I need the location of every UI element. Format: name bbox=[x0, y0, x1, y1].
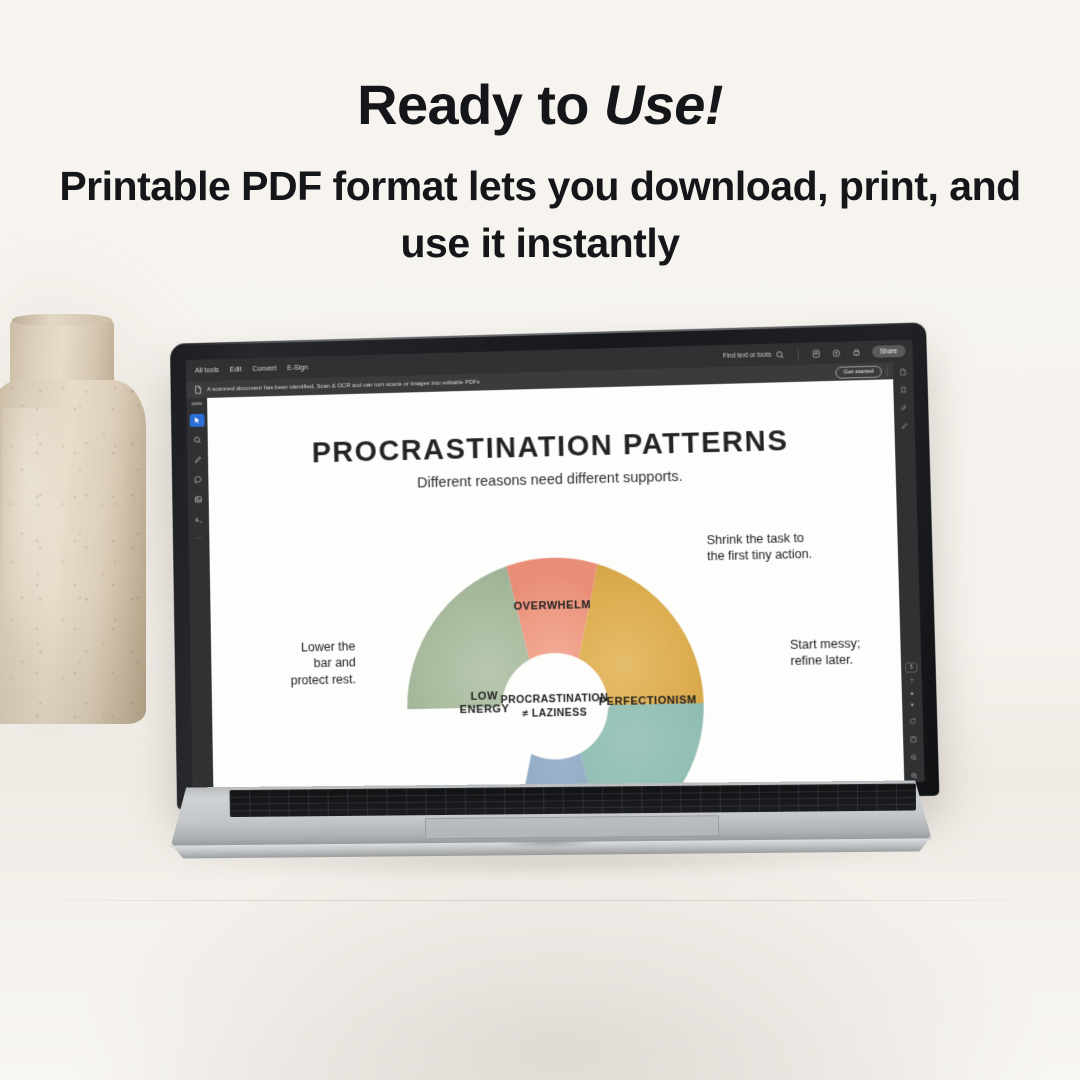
signature-tool-button[interactable] bbox=[191, 512, 206, 525]
print-icon[interactable] bbox=[852, 348, 861, 357]
page-number-current[interactable]: 5 bbox=[906, 662, 918, 672]
find-text-or-tools-button[interactable]: Find text or tools bbox=[723, 350, 785, 361]
toolbar-spacer bbox=[319, 356, 712, 367]
right-rail-spacer bbox=[905, 438, 911, 656]
wheel-hub-text: PROCRASTINATION ≠ LAZINESS bbox=[484, 692, 625, 723]
laptop-deck bbox=[169, 780, 932, 847]
export-pdf-icon[interactable] bbox=[896, 366, 910, 378]
zoom-tool-button[interactable] bbox=[190, 433, 205, 446]
bookmark-icon[interactable] bbox=[896, 384, 910, 396]
segment-label-overwhelm: OVERWHELM bbox=[494, 599, 610, 615]
get-started-button[interactable]: Get started bbox=[835, 365, 881, 378]
laptop-screen: All tools Edit Convert E-Sign Find text … bbox=[186, 340, 925, 796]
vase-texture bbox=[0, 380, 146, 724]
search-icon[interactable] bbox=[775, 350, 784, 359]
headline-emphasis: Use! bbox=[604, 73, 723, 136]
rotate-icon[interactable] bbox=[906, 715, 921, 727]
wheel-svg bbox=[386, 512, 724, 795]
menu-item-edit[interactable]: Edit bbox=[230, 366, 242, 373]
toolbar-divider bbox=[797, 348, 798, 359]
pdf-page-content: PROCRASTINATION PATTERNS Different reaso… bbox=[207, 379, 904, 795]
page-number-total: 7 bbox=[910, 679, 913, 685]
menu-item-e-sign[interactable]: E-Sign bbox=[287, 364, 308, 371]
rail-drag-handle[interactable] bbox=[191, 402, 202, 405]
notice-divider bbox=[887, 366, 888, 376]
keyboard[interactable] bbox=[229, 783, 915, 817]
add-image-tool-button[interactable] bbox=[191, 492, 206, 505]
trackpad[interactable] bbox=[425, 815, 719, 839]
attachment-icon[interactable] bbox=[897, 402, 911, 414]
chevron-up-icon[interactable]: ▲ bbox=[909, 691, 915, 697]
share-button[interactable]: Share bbox=[872, 345, 906, 358]
notice-spacer bbox=[485, 372, 831, 381]
headline-prefix: Ready to bbox=[357, 73, 604, 136]
edit-pencil-icon[interactable] bbox=[897, 420, 911, 432]
upload-cloud-icon[interactable] bbox=[831, 348, 840, 357]
table-edge-line bbox=[0, 900, 1080, 901]
laptop-lid: All tools Edit Convert E-Sign Find text … bbox=[170, 322, 939, 809]
zoom-out-icon[interactable] bbox=[907, 751, 922, 763]
vase-body bbox=[0, 380, 146, 724]
page-thumbnails-icon[interactable] bbox=[811, 349, 820, 358]
comment-tool-button[interactable] bbox=[191, 473, 206, 486]
select-tool-button[interactable] bbox=[190, 413, 205, 426]
laptop-base bbox=[147, 780, 948, 866]
procrastination-wheel-diagram: LOW ENERGY OVERWHELM PERFECTIONISM PROCR… bbox=[386, 512, 723, 795]
pdf-page[interactable]: PROCRASTINATION PATTERNS Different reaso… bbox=[207, 379, 904, 795]
laptop-mockup: All tools Edit Convert E-Sign Find text … bbox=[148, 332, 948, 892]
promo-headline: Ready to Use! bbox=[0, 72, 1080, 137]
ceramic-vase bbox=[0, 318, 146, 724]
callout-low-energy: Lower the bar and protect rest. bbox=[245, 638, 357, 689]
menu-item-convert[interactable]: Convert bbox=[252, 365, 276, 373]
menu-item-all-tools[interactable]: All tools bbox=[195, 367, 219, 375]
chevron-down-icon[interactable]: ▼ bbox=[910, 703, 916, 709]
more-tools-button[interactable]: … bbox=[195, 533, 202, 540]
notice-message: A scanned document has been identified, … bbox=[207, 379, 480, 392]
highlight-tool-button[interactable] bbox=[190, 453, 205, 466]
callout-perfectionism: Start messy; refine later. bbox=[790, 634, 904, 670]
find-label: Find text or tools bbox=[723, 351, 771, 359]
callout-overwhelm: Shrink the task to the first tiny action… bbox=[707, 528, 889, 565]
fit-page-icon[interactable] bbox=[906, 733, 921, 745]
promo-subheadline: Printable PDF format lets you download, … bbox=[42, 158, 1038, 271]
scanned-document-icon bbox=[194, 385, 202, 394]
